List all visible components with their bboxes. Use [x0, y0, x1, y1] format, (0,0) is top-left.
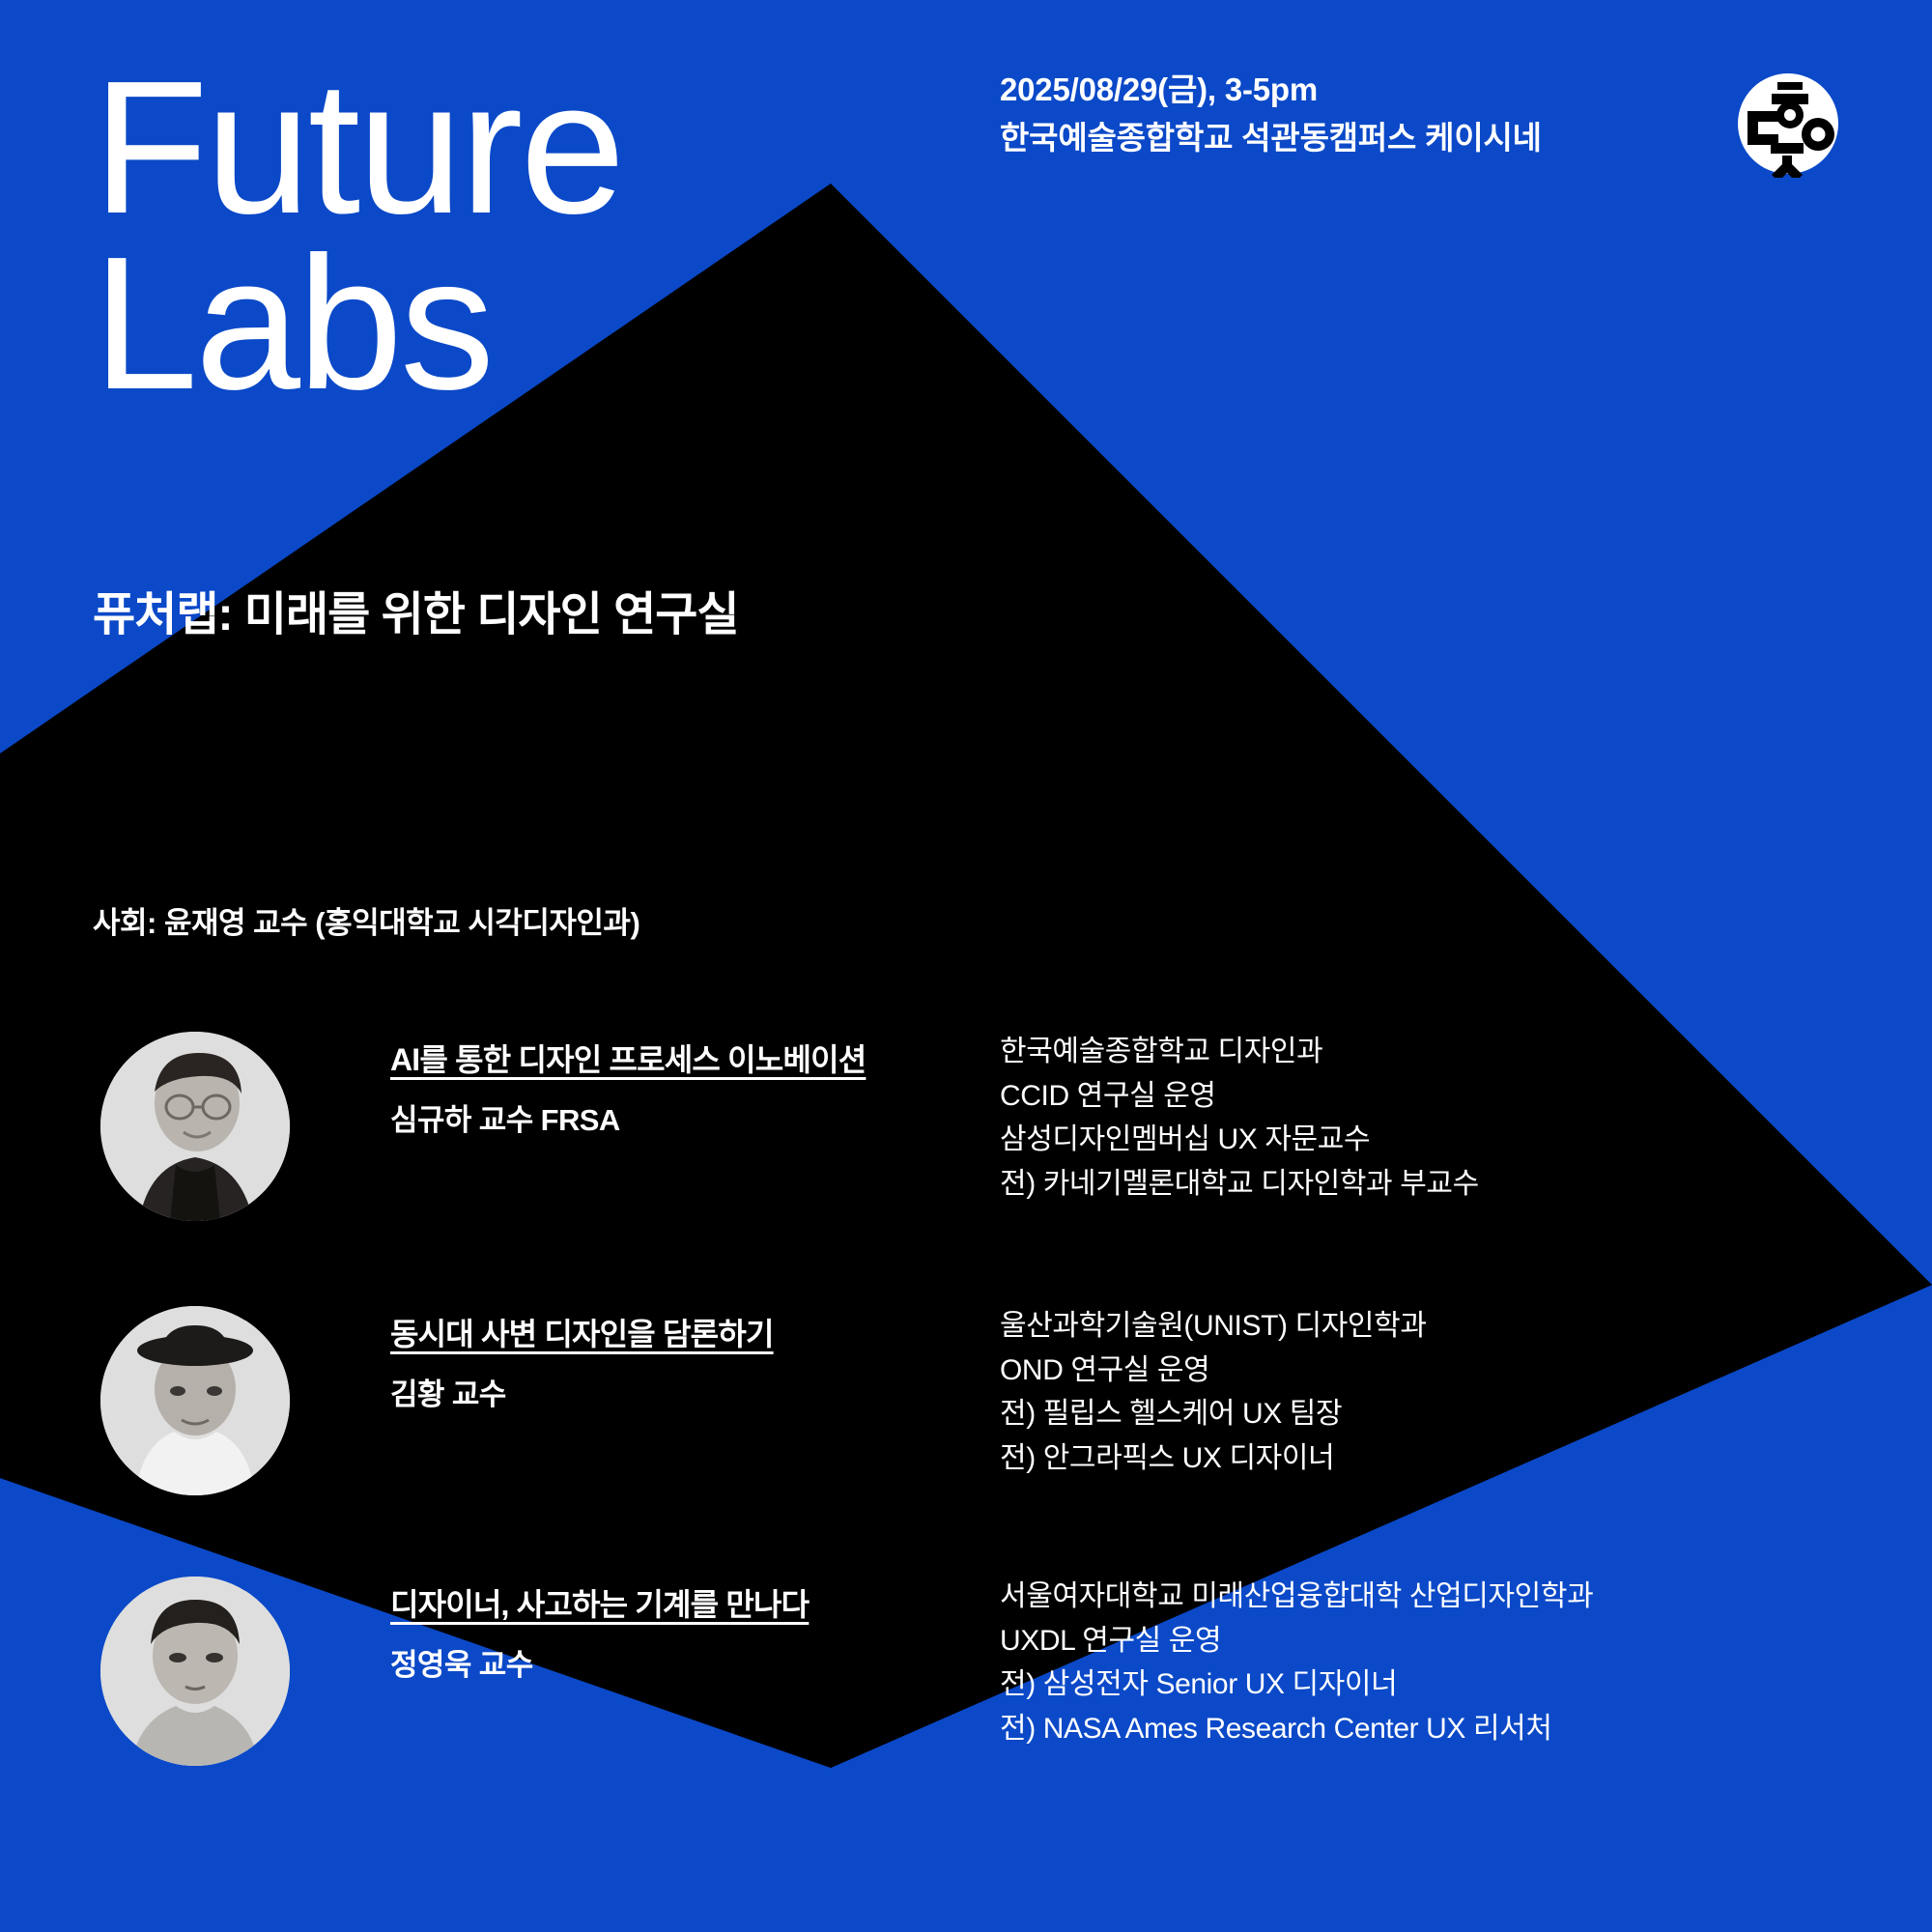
bio-line: 전) NASA Ames Research Center UX 리서처: [1000, 1707, 1593, 1751]
speaker-name: 김황 교수: [390, 1370, 774, 1413]
page-title: Future Labs: [93, 60, 622, 412]
speaker-bio: 울산과학기술원(UNIST) 디자인학과 OND 연구실 운영 전) 필립스 헬…: [1000, 1304, 1427, 1480]
header-meta: 2025/08/29(금), 3-5pm 한국예술종합학교 석관동캠퍼스 케이시…: [1000, 66, 1542, 162]
portrait-sim-gyuha: [100, 1032, 290, 1221]
speaker-name: 심규하 교수 FRSA: [390, 1095, 866, 1139]
bio-line: OND 연구실 운영: [1000, 1349, 1427, 1393]
event-venue: 한국예술종합학교 석관동캠퍼스 케이시네: [1000, 114, 1542, 162]
portrait-kim-hwang: [100, 1306, 290, 1495]
speaker-main: 디자이너, 사고하는 기계를 만나다 정영욱 교수: [390, 1580, 809, 1684]
title-line-1: Future: [93, 60, 622, 236]
talk-title: AI를 통한 디자인 프로세스 이노베이션: [390, 1036, 866, 1080]
speaker-name: 정영욱 교수: [390, 1640, 809, 1684]
moderator-line: 사회: 윤재영 교수 (홍익대학교 시각디자인과): [93, 898, 639, 942]
speaker-row: 디자이너, 사고하는 기계를 만나다 정영욱 교수 서울여자대학교 미래산업융합…: [0, 1577, 1932, 1818]
portrait-jung-youngwook: [100, 1577, 290, 1766]
bio-line: 삼성디자인멤버십 UX 자문교수: [1000, 1118, 1479, 1162]
bio-line: 한국예술종합학교 디자인과: [1000, 1030, 1479, 1074]
bio-line: 전) 삼성전자 Senior UX 디자이너: [1000, 1662, 1593, 1707]
poster-root: 2025/08/29(금), 3-5pm 한국예술종합학교 석관동캠퍼스 케이시…: [0, 0, 1932, 1932]
talk-title: 디자이너, 사고하는 기계를 만나다: [390, 1580, 809, 1625]
speaker-bio: 한국예술종합학교 디자인과 CCID 연구실 운영 삼성디자인멤버십 UX 자문…: [1000, 1030, 1479, 1206]
title-line-2: Labs: [93, 236, 622, 412]
speaker-main: AI를 통한 디자인 프로세스 이노베이션 심규하 교수 FRSA: [390, 1036, 866, 1139]
bio-line: UXDL 연구실 운영: [1000, 1619, 1593, 1663]
bio-line: CCID 연구실 운영: [1000, 1074, 1479, 1119]
bio-line: 울산과학기술원(UNIST) 디자인학과: [1000, 1304, 1427, 1349]
event-datetime: 2025/08/29(금), 3-5pm: [1000, 66, 1542, 114]
speaker-row: AI를 통한 디자인 프로세스 이노베이션 심규하 교수 FRSA 한국예술종합…: [0, 1032, 1932, 1273]
speaker-bio: 서울여자대학교 미래산업융합대학 산업디자인학과 UXDL 연구실 운영 전) …: [1000, 1575, 1593, 1750]
bio-line: 서울여자대학교 미래산업융합대학 산업디자인학과: [1000, 1575, 1593, 1619]
k-arts-logo: [1734, 70, 1842, 178]
subtitle: 퓨처랩: 미래를 위한 디자인 연구실: [93, 576, 739, 643]
bio-line: 전) 필립스 헬스케어 UX 팀장: [1000, 1392, 1427, 1436]
bio-line: 전) 안그라픽스 UX 디자이너: [1000, 1436, 1427, 1481]
bio-line: 전) 카네기멜론대학교 디자인학과 부교수: [1000, 1162, 1479, 1207]
speaker-main: 동시대 사변 디자인을 담론하기 김황 교수: [390, 1310, 774, 1413]
speaker-row: 동시대 사변 디자인을 담론하기 김황 교수 울산과학기술원(UNIST) 디자…: [0, 1306, 1932, 1548]
talk-title: 동시대 사변 디자인을 담론하기: [390, 1310, 774, 1354]
